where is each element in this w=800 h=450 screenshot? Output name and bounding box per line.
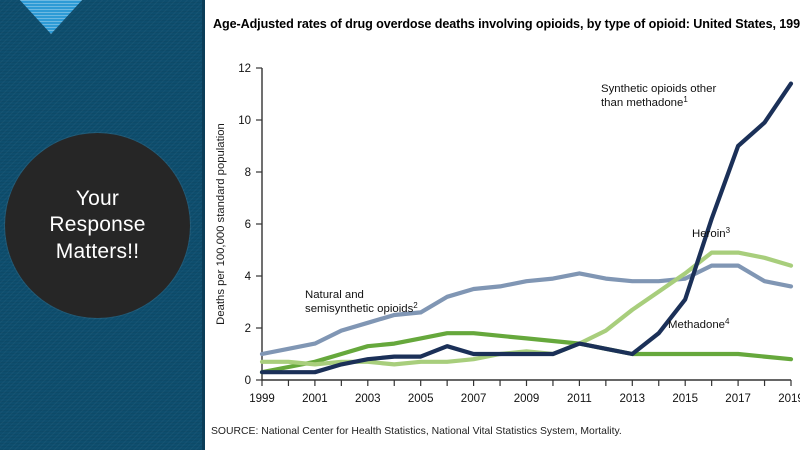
- chart-figure: 0246810121999200120032005200720092011201…: [205, 40, 800, 420]
- y-tick-label: 0: [245, 375, 251, 387]
- content-panel: Age-Adjusted rates of drug overdose deat…: [205, 0, 800, 450]
- series-annotation: Heroin3: [692, 226, 731, 241]
- x-tick-label: 2015: [672, 393, 698, 405]
- x-tick-label: 2005: [408, 393, 434, 405]
- headline-circle: Your Response Matters!!: [5, 133, 190, 318]
- x-tick-label: 2013: [620, 393, 646, 405]
- y-tick-label: 4: [245, 271, 252, 283]
- line-chart-svg: 0246810121999200120032005200720092011201…: [205, 40, 800, 420]
- y-tick-label: 6: [245, 219, 251, 231]
- y-tick-label: 8: [245, 167, 251, 179]
- x-tick-label: 2009: [514, 393, 540, 405]
- x-tick-label: 1999: [249, 393, 275, 405]
- series-annotation: Synthetic opioids otherthan methadone1: [601, 83, 716, 109]
- x-tick-label: 2011: [567, 393, 592, 405]
- sidebar-panel: Your Response Matters!!: [0, 0, 205, 450]
- x-tick-label: 2003: [355, 393, 381, 405]
- x-tick-label: 2007: [461, 393, 487, 405]
- slide-root: Your Response Matters!! Age-Adjusted rat…: [0, 0, 800, 450]
- y-tick-label: 2: [245, 323, 251, 335]
- y-tick-label: 12: [238, 63, 251, 75]
- x-tick-label: 2019: [778, 393, 800, 405]
- series-annotation: Methadone4: [668, 317, 730, 332]
- series-annotation: Natural andsemisynthetic opioids2: [305, 289, 418, 315]
- chart-source-note: SOURCE: National Center for Health Stati…: [211, 426, 622, 437]
- x-tick-label: 2017: [725, 393, 751, 405]
- x-tick-label: 2001: [302, 393, 328, 405]
- y-tick-label: 10: [238, 115, 251, 127]
- chart-title: Age-Adjusted rates of drug overdose deat…: [213, 17, 798, 31]
- y-axis-label: Deaths per 100,000 standard population: [215, 123, 227, 325]
- headline-text: Your Response Matters!!: [49, 186, 145, 265]
